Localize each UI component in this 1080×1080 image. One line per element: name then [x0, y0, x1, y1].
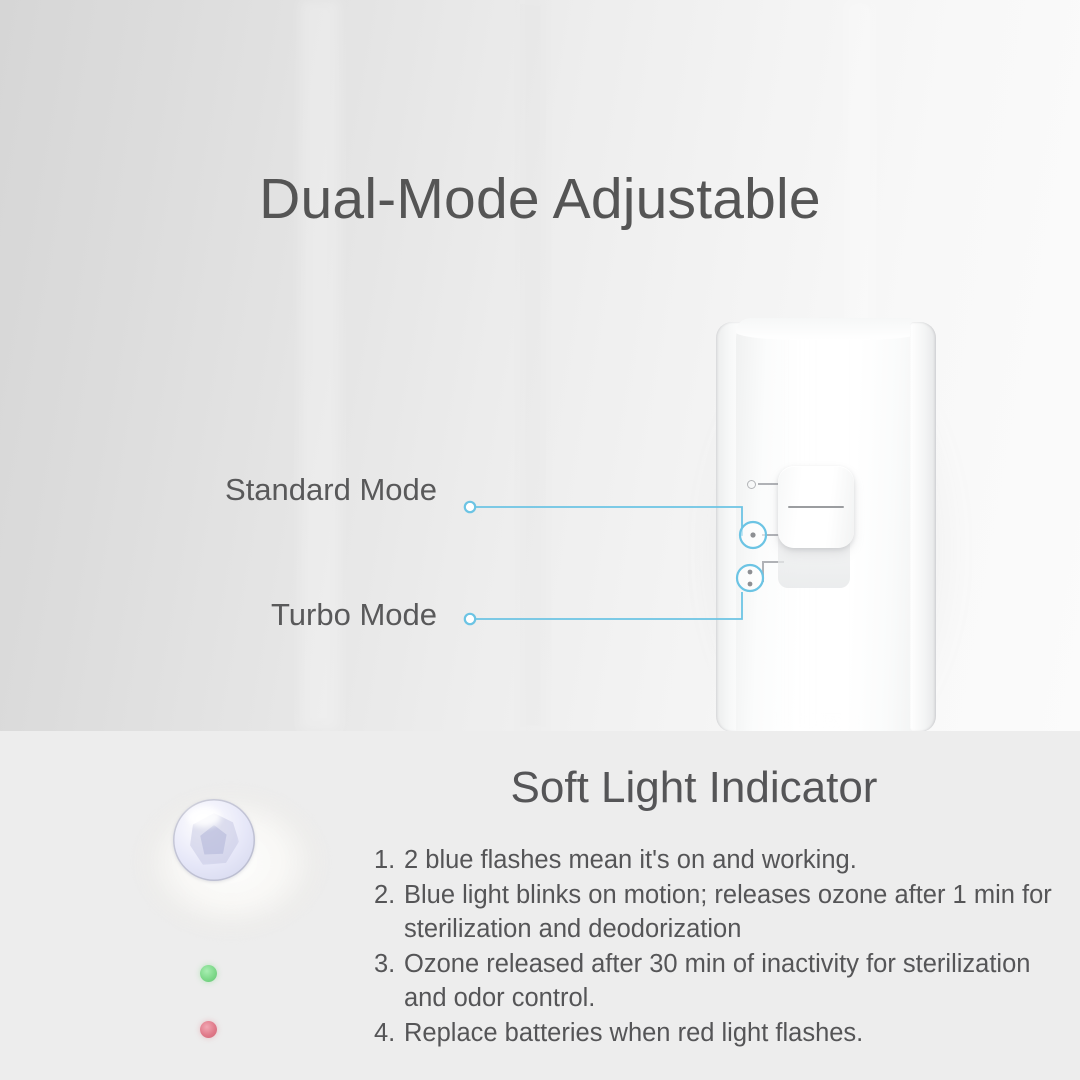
- list-item-number: 4.: [374, 1016, 398, 1050]
- list-item: 4. Replace batteries when red light flas…: [374, 1016, 1074, 1050]
- list-item: 2. Blue light blinks on motion; releases…: [374, 878, 1074, 946]
- callout-label-turbo-mode: Turbo Mode: [0, 597, 437, 633]
- etch-line: [762, 561, 764, 581]
- list-item: 3. Ozone released after 30 min of inacti…: [374, 947, 1074, 1015]
- list-item-text: Ozone released after 30 min of inactivit…: [404, 950, 1030, 1012]
- knob-grip-line-icon: [788, 506, 844, 508]
- led-indicator-red: [200, 1021, 217, 1038]
- soft-light-indicator-title: Soft Light Indicator: [344, 763, 1044, 813]
- list-item-number: 1.: [374, 843, 398, 877]
- mode-slider-knob[interactable]: [778, 466, 854, 548]
- product-feature-panel: Dual-Mode Adjustable: [0, 0, 1080, 1080]
- led-indicator-green: [200, 965, 217, 982]
- device-illustration: [714, 318, 942, 731]
- indicator-notes-list: 1. 2 blue flashes mean it's on and worki…: [374, 843, 1074, 1051]
- connector-endpoint-standard: [465, 502, 475, 512]
- list-item-text: Replace batteries when red light flashes…: [404, 1019, 863, 1047]
- mode-mark-off-icon: [747, 480, 756, 489]
- device-top-edge: [736, 318, 922, 340]
- background-band: [520, 0, 546, 731]
- dual-mode-title: Dual-Mode Adjustable: [0, 166, 1080, 232]
- list-item: 1. 2 blue flashes mean it's on and worki…: [374, 843, 1074, 877]
- connector-endpoint-turbo: [465, 614, 475, 624]
- list-item-number: 3.: [374, 947, 398, 981]
- list-item-number: 2.: [374, 878, 398, 912]
- pir-sensor-dome-icon: [173, 799, 255, 881]
- pir-sensor-illustration: [118, 769, 348, 1059]
- sensor-highlight: [187, 807, 221, 827]
- soft-light-indicator-section: Soft Light Indicator 1. 2 blue flashes m…: [0, 731, 1080, 1080]
- list-item-text: 2 blue flashes mean it's on and working.: [404, 846, 857, 874]
- dual-mode-section: Dual-Mode Adjustable: [0, 0, 1080, 731]
- callout-label-standard-mode: Standard Mode: [0, 472, 437, 508]
- device-right-edge: [910, 322, 936, 731]
- list-item-text: Blue light blinks on motion; releases oz…: [404, 881, 1052, 943]
